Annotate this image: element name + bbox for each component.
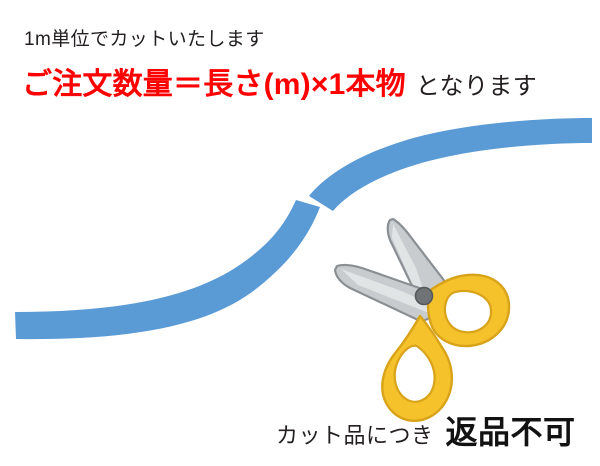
- scissors-upper-handle-hole: [445, 291, 491, 332]
- blue-hose-right-segment: [309, 118, 592, 211]
- scissors-pivot-icon: [416, 288, 433, 305]
- notice-line-2: ご注文数量＝長さ(m)×1本物となります: [22, 68, 537, 107]
- notice-line-2-tail: となります: [406, 73, 537, 100]
- notice-footer-strong: 返品不可: [434, 414, 576, 450]
- cut-notice-graphic: 1m単位でカットいたします ご注文数量＝長さ(m)×1本物となります カット品に…: [0, 0, 600, 466]
- notice-line-1: 1m単位でカットいたします: [24, 28, 265, 52]
- blue-hose-left-segment: [15, 200, 320, 339]
- notice-footer-lead: カット品につき: [276, 423, 434, 448]
- scissors: [335, 219, 509, 421]
- notice-footer: カット品につき返品不可: [276, 412, 576, 459]
- notice-line-2-emphasis: ご注文数量＝長さ(m)×1本物: [22, 68, 406, 101]
